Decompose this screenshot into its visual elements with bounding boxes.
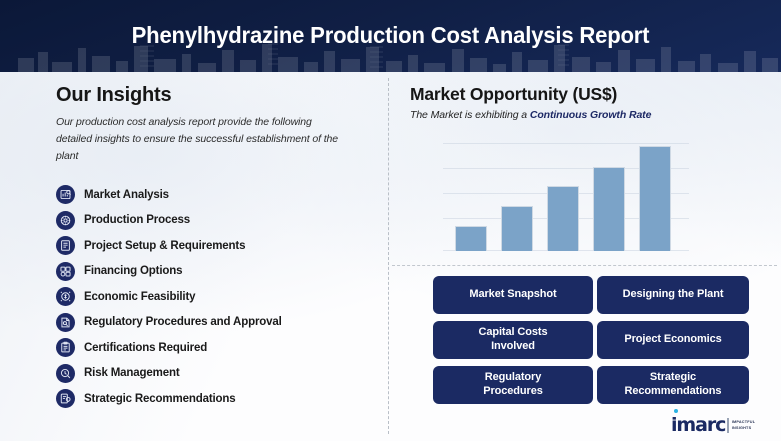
page-header: Phenylhydrazine Production Cost Analysis… bbox=[0, 0, 781, 72]
button-capital-costs-involved[interactable]: Capital Costs Involved bbox=[433, 321, 593, 359]
imarc-logo: imarc Impactful Insights bbox=[671, 408, 771, 435]
market-heading: Market Opportunity (US$) bbox=[410, 84, 770, 105]
market-analysis-icon bbox=[56, 185, 75, 204]
chart-bar bbox=[547, 186, 579, 251]
report-infographic-page: Phenylhydrazine Production Cost Analysis… bbox=[0, 0, 781, 441]
project-setup-icon bbox=[56, 236, 75, 255]
chart-bar bbox=[501, 206, 533, 251]
insight-label: Market Analysis bbox=[84, 189, 169, 201]
chart-bar bbox=[639, 146, 671, 251]
risk-management-icon bbox=[56, 364, 75, 383]
insight-label: Project Setup & Requirements bbox=[84, 240, 245, 252]
insight-label: Certifications Required bbox=[84, 342, 207, 354]
insights-panel: Our Insights Our production cost analysi… bbox=[56, 84, 376, 412]
insight-item-production-process[interactable]: Production Process bbox=[56, 208, 376, 234]
insight-item-strategic-recommendations[interactable]: Strategic Recommendations bbox=[56, 386, 376, 412]
logo-mark: imarc Impactful Insights bbox=[671, 416, 755, 435]
insight-item-risk-management[interactable]: Risk Management bbox=[56, 361, 376, 387]
vertical-divider bbox=[388, 78, 389, 434]
insight-item-market-analysis[interactable]: Market Analysis bbox=[56, 182, 376, 208]
economic-feasibility-icon bbox=[56, 287, 75, 306]
market-opportunity-panel: Market Opportunity (US$) The Market is e… bbox=[410, 84, 770, 121]
market-subtitle-accent: Continuous Growth Rate bbox=[530, 109, 651, 121]
market-subtitle: The Market is exhibiting a Continuous Gr… bbox=[410, 109, 770, 121]
report-section-buttons: Market Snapshot Designing the Plant Capi… bbox=[433, 276, 749, 404]
insight-label: Regulatory Procedures and Approval bbox=[84, 316, 282, 328]
button-project-economics[interactable]: Project Economics bbox=[597, 321, 749, 359]
button-strategic-recommendations[interactable]: Strategic Recommendations bbox=[597, 366, 749, 404]
insight-item-economic-feasibility[interactable]: Economic Feasibility bbox=[56, 284, 376, 310]
insight-label: Economic Feasibility bbox=[84, 291, 195, 303]
logo-accent-dot bbox=[674, 409, 678, 413]
insight-label: Production Process bbox=[84, 214, 190, 226]
button-regulatory-procedures[interactable]: Regulatory Procedures bbox=[433, 366, 593, 404]
regulatory-procedures-icon bbox=[56, 313, 75, 332]
insight-label: Financing Options bbox=[84, 265, 182, 277]
logo-tagline: Impactful Insights bbox=[732, 420, 755, 431]
chart-bar bbox=[455, 226, 487, 251]
insight-label: Strategic Recommendations bbox=[84, 393, 236, 405]
insight-item-project-setup[interactable]: Project Setup & Requirements bbox=[56, 233, 376, 259]
horizontal-divider bbox=[392, 265, 777, 266]
certifications-icon bbox=[56, 338, 75, 357]
financing-options-icon bbox=[56, 262, 75, 281]
chart-bar bbox=[593, 167, 625, 251]
market-subtitle-lead: The Market is exhibiting a bbox=[410, 109, 530, 121]
insight-item-financing-options[interactable]: Financing Options bbox=[56, 259, 376, 285]
page-title: Phenylhydrazine Production Cost Analysis… bbox=[16, 22, 766, 49]
insight-label: Risk Management bbox=[84, 367, 180, 379]
strategic-recommendations-icon bbox=[56, 389, 75, 408]
production-process-icon bbox=[56, 211, 75, 230]
insights-heading: Our Insights bbox=[56, 84, 376, 107]
market-growth-bar-chart bbox=[455, 135, 685, 251]
chart-bars bbox=[455, 135, 685, 251]
logo-wordmark: imarc bbox=[671, 416, 725, 435]
insight-item-regulatory-procedures[interactable]: Regulatory Procedures and Approval bbox=[56, 310, 376, 336]
button-market-snapshot[interactable]: Market Snapshot bbox=[433, 276, 593, 314]
button-designing-the-plant[interactable]: Designing the Plant bbox=[597, 276, 749, 314]
insights-subtitle: Our production cost analysis report prov… bbox=[56, 114, 348, 165]
logo-divider bbox=[727, 418, 729, 433]
insights-list: Market Analysis Production Process bbox=[56, 182, 376, 412]
insight-item-certifications[interactable]: Certifications Required bbox=[56, 335, 376, 361]
